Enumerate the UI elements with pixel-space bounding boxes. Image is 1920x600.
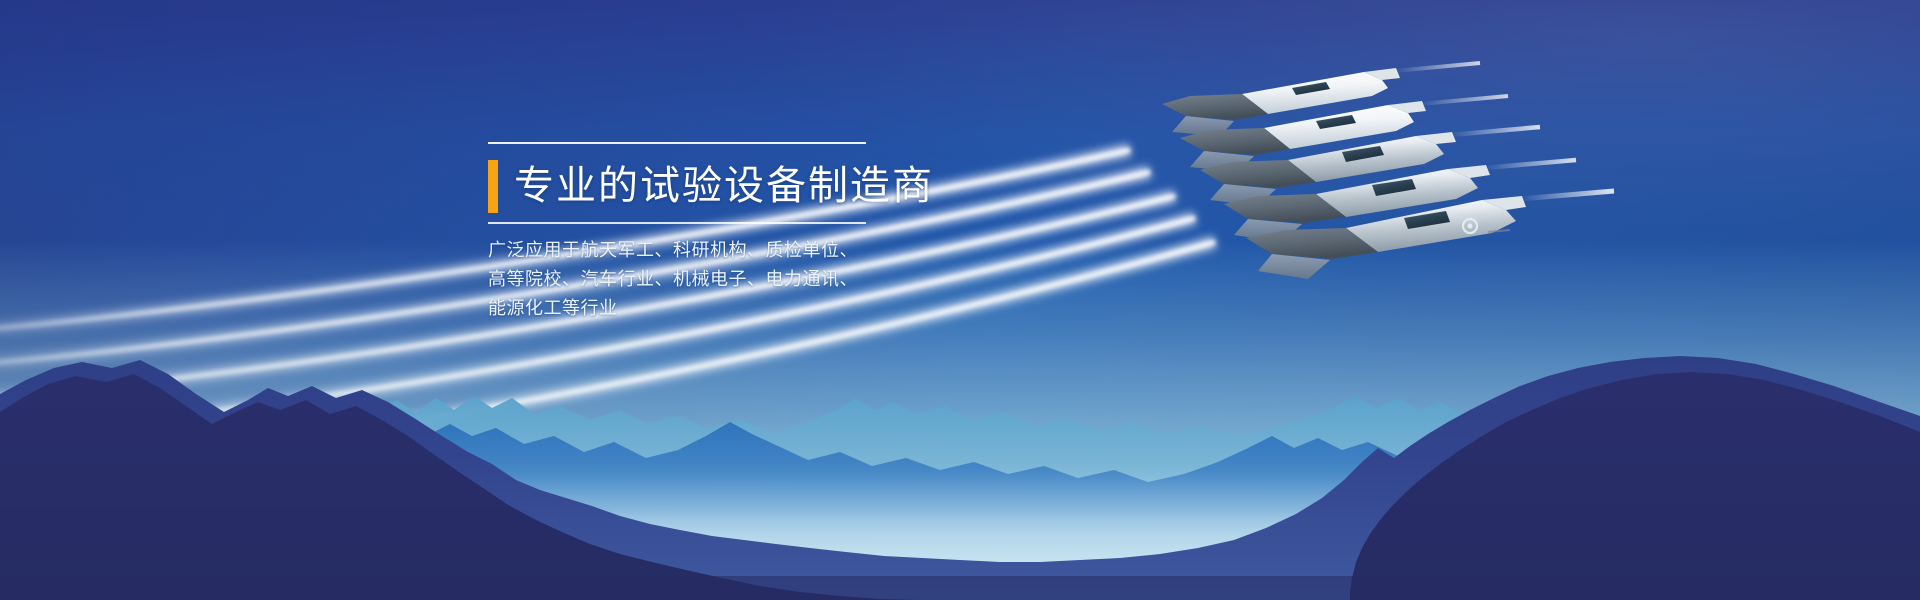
title-top-rule [488,142,866,144]
subtitle-line-3: 能源化工等行业 [488,294,908,323]
title-row: 专业的试验设备制造商 [488,150,908,222]
subtitle-line-2: 高等院校、汽车行业、机械电子、电力通讯、 [488,265,908,294]
jet-stack [1162,63,1614,279]
banner-copy: 专业的试验设备制造商 广泛应用于航天军工、科研机构、质检单位、 高等院校、汽车行… [488,142,908,323]
hero-banner: 专业的试验设备制造商 广泛应用于航天军工、科研机构、质检单位、 高等院校、汽车行… [0,0,1920,600]
accent-bar [488,160,498,213]
page-title: 专业的试验设备制造商 [514,166,934,206]
banner-subtitle: 广泛应用于航天军工、科研机构、质检单位、 高等院校、汽车行业、机械电子、电力通讯… [488,236,908,323]
mountain-range-silhouette [0,340,1920,600]
mountain-base-fill [0,576,1920,600]
title-bottom-rule [488,222,866,224]
subtitle-line-1: 广泛应用于航天军工、科研机构、质检单位、 [488,236,908,265]
